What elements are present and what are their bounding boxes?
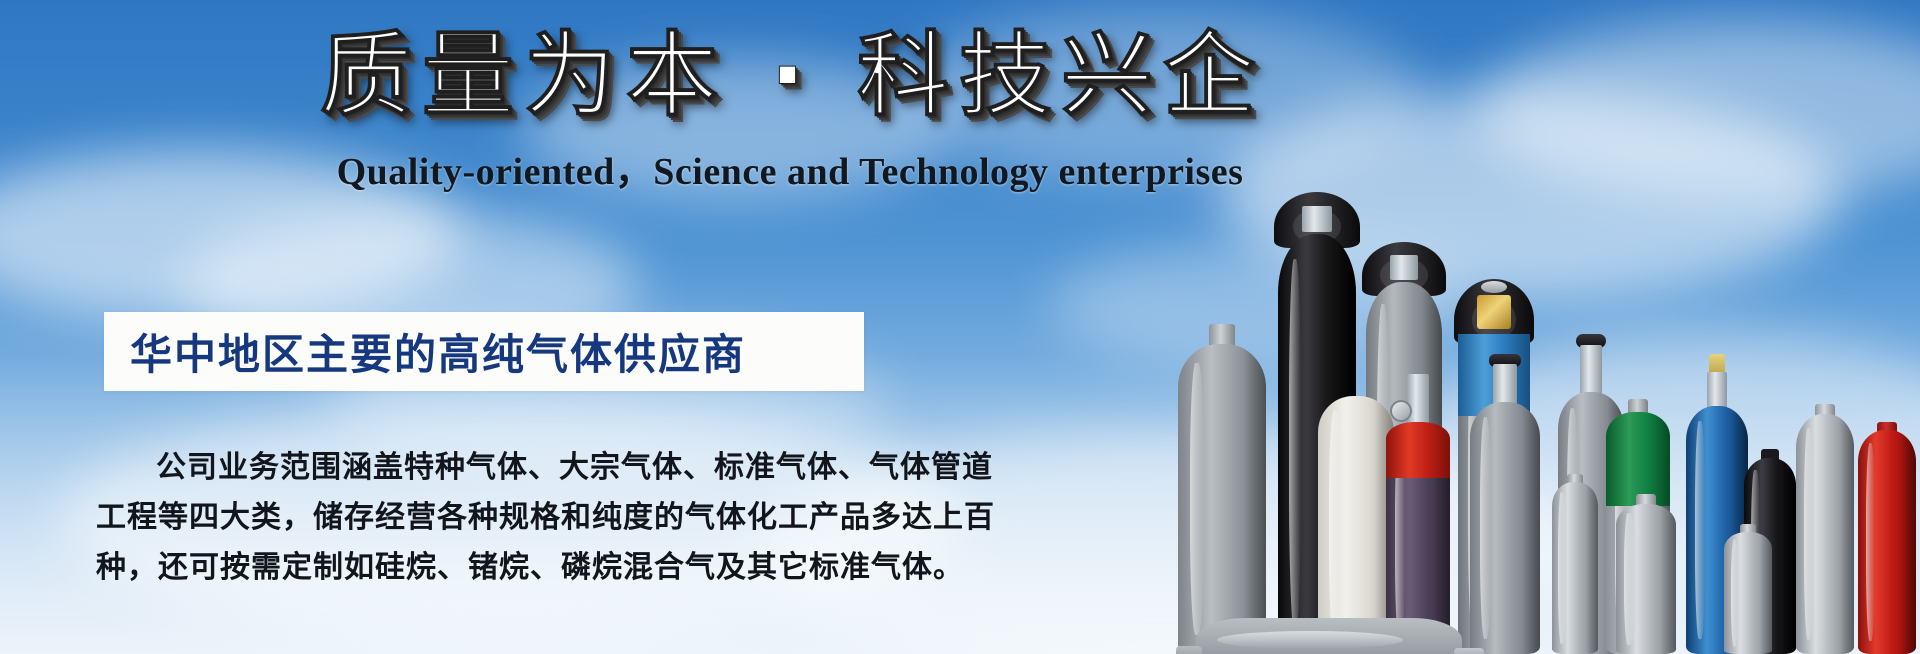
cylinder-body [1858, 430, 1916, 654]
aluminium-slim-bottle [1724, 524, 1772, 654]
body-line-2: 工程等四大类，储存经营各种规格和纯度的气体化工产品多达上百 [96, 493, 1056, 543]
body-line-3: 种，还可按需定制如硅烷、锗烷、磷烷混合气及其它标准气体。 [96, 543, 1056, 593]
tagline-box: 华中地区主要的高纯气体供应商 [104, 312, 864, 391]
cylinder-valve [1707, 372, 1727, 410]
promotional-banner: 质量为本 · 科技兴企 Quality-oriented，Science and… [0, 0, 1920, 654]
cylinder-body [1724, 532, 1772, 654]
gas-cylinder-group [1168, 172, 1920, 654]
banner-headline: 质量为本 · 科技兴企 [320, 22, 1250, 131]
red-purple-cylinder [1386, 374, 1450, 654]
tank-shell [1196, 618, 1462, 654]
cylinder-shoulder-color [1386, 422, 1450, 478]
white-cylinder [1318, 396, 1394, 654]
cylinder-valve [1302, 206, 1332, 232]
aluminium-short-bottle [1616, 494, 1676, 654]
grey-medium-cylinder [1470, 354, 1540, 654]
tank-end-cap [1176, 646, 1202, 654]
banner-body-copy: 公司业务范围涵盖特种气体、大宗气体、标准气体、气体管道 工程等四大类，储存经营各… [96, 443, 1056, 593]
cylinder-body [1616, 504, 1676, 654]
cylinder-brass-valve [1477, 295, 1511, 329]
cylinder-body [1318, 396, 1394, 654]
banner-subheadline: Quality-oriented，Science and Technology … [300, 140, 1280, 195]
tank-valve [1454, 648, 1484, 654]
aluminium-cylinder [1796, 404, 1854, 654]
cylinder-valve [1407, 374, 1429, 426]
cylinder-body [1178, 344, 1266, 654]
cylinder-pressure-gauge-icon [1390, 400, 1412, 422]
cylinder-body [1470, 402, 1540, 654]
grey-large-cylinder [1178, 324, 1266, 654]
cylinder-body [1552, 482, 1598, 654]
cylinder-color-band [1606, 412, 1670, 506]
cylinder-valve [1580, 345, 1602, 399]
body-line-1: 公司业务范围涵盖特种气体、大宗气体、标准气体、气体管道 [96, 443, 1056, 493]
cylinder-valve [1390, 255, 1418, 280]
red-aluminium-cylinder [1858, 422, 1916, 654]
tagline-text: 华中地区主要的高纯气体供应商 [104, 321, 746, 382]
cylinder-body [1796, 414, 1854, 654]
aluminium-tall-bottle [1552, 474, 1598, 654]
cylinder-handwheel-icon [1481, 281, 1507, 293]
